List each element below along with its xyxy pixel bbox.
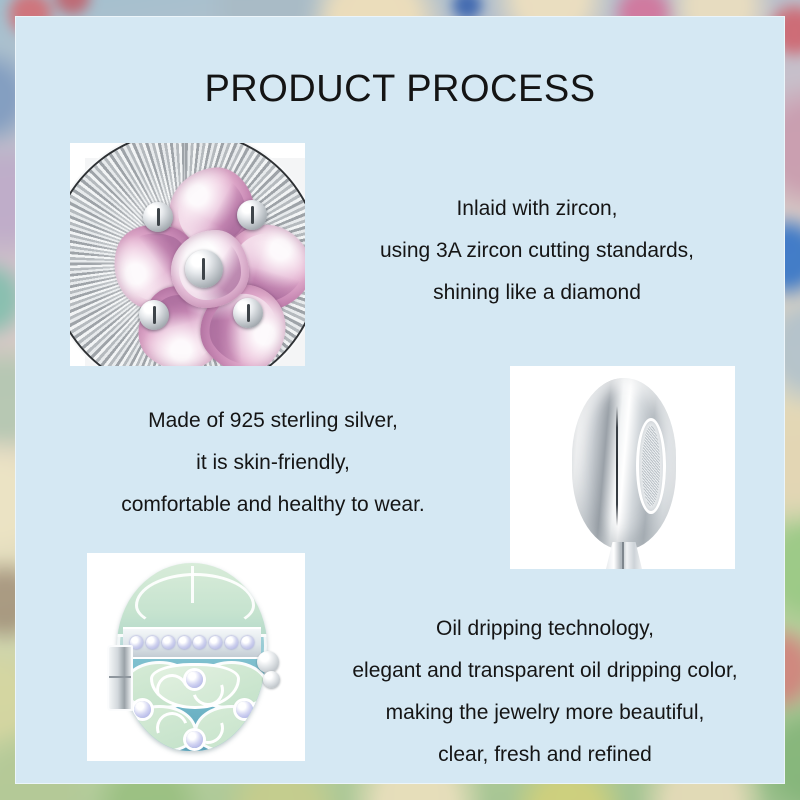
pave-crystal (162, 636, 175, 649)
egg-lower-enamel-field (117, 659, 267, 751)
pave-crystal (193, 636, 206, 649)
zircon-line-3: shining like a diamond (352, 272, 722, 314)
lavender-crystal-left (134, 701, 151, 718)
zircon-line-1: Inlaid with zircon, (352, 188, 722, 230)
silver-bead-body (572, 378, 676, 550)
bead-through-hole (636, 418, 666, 514)
enamel-egg-locket-charm-photo (87, 553, 305, 761)
enamel-line-3: making the jewelry more beautiful, (305, 692, 785, 734)
silver-line-3: comfortable and healthy to wear. (63, 484, 483, 526)
product-process-poster: PRODUCT PROCESS Inlaid with zircon, usi (0, 0, 800, 800)
lavender-crystal-right (236, 701, 253, 718)
bead-seam-line (616, 406, 618, 526)
pave-crystal (225, 636, 238, 649)
zircon-line-2: using 3A zircon cutting standards, (352, 230, 722, 272)
pink-zircon-flower-macro-photo (70, 143, 305, 366)
silver-bead-center (185, 250, 223, 288)
lavender-crystal-bottom (186, 731, 203, 748)
pave-crystal (241, 636, 254, 649)
pave-crystal (146, 636, 159, 649)
polished-silver-bead-photo (510, 366, 735, 569)
egg-locket-body (117, 563, 267, 751)
pave-crystal (178, 636, 191, 649)
silver-bead-top-right (237, 200, 267, 230)
enamel-line-4: clear, fresh and refined (305, 734, 785, 776)
locket-clasp-bead-upper (257, 651, 279, 673)
silver-text-block: Made of 925 sterling silver, it is skin-… (63, 400, 483, 526)
silver-bead-top-left (143, 202, 173, 232)
silver-bead-bottom-right (233, 298, 263, 328)
zircon-text-block: Inlaid with zircon, using 3A zircon cutt… (352, 188, 722, 314)
page-title: PRODUCT PROCESS (15, 68, 785, 111)
enamel-line-2: elegant and transparent oil dripping col… (305, 650, 785, 692)
crystal-pave-band (123, 627, 261, 659)
locket-clasp-bead-lower (263, 671, 280, 688)
enamel-line-1: Oil dripping technology, (305, 608, 785, 650)
silver-line-2: it is skin-friendly, (63, 442, 483, 484)
silver-line-1: Made of 925 sterling silver, (63, 400, 483, 442)
pave-crystal (209, 636, 222, 649)
silver-bead-bottom-left (139, 300, 169, 330)
lavender-crystal-top (186, 671, 203, 688)
zircon-photo-plate (85, 158, 305, 366)
content-panel: PRODUCT PROCESS Inlaid with zircon, usi (15, 16, 785, 784)
cap-center-rib (191, 566, 194, 603)
cap-filigree-swirl (135, 573, 255, 629)
locket-hinge (107, 645, 133, 711)
enamel-text-block: Oil dripping technology, elegant and tra… (305, 608, 785, 776)
